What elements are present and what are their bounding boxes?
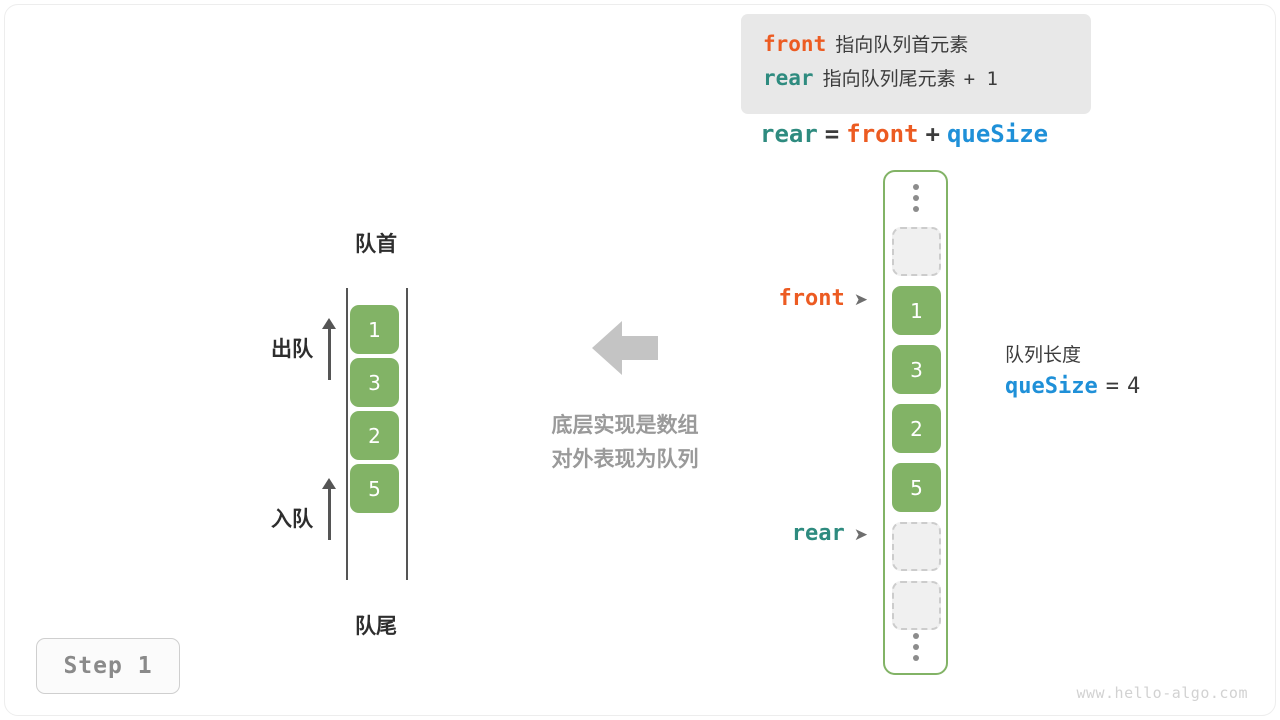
queue-cell-1-value: 3	[368, 371, 381, 395]
array-container: 1 3 2 5	[883, 170, 948, 675]
rear-equation: rear=front+queSize	[760, 118, 1048, 150]
array-cell-4: 5	[892, 463, 941, 512]
rear-description-tail: + 1	[964, 68, 998, 90]
quesize-note: 队列长度 queSize=4	[1005, 340, 1140, 404]
queue-rail-left	[346, 288, 348, 580]
queue-tail-label: 队尾	[296, 610, 456, 640]
queue-cell-3: 5	[350, 464, 399, 513]
rear-pointer-arrow-icon: ➤	[854, 525, 868, 545]
quesize-name: queSize	[1005, 374, 1098, 399]
queue-cell-0-value: 1	[368, 318, 381, 342]
equation-front-term: front	[846, 120, 918, 148]
rear-description: 指向队列尾元素	[823, 68, 956, 90]
array-cell-4-value: 5	[910, 476, 923, 500]
rear-pointer-text: rear	[792, 521, 845, 546]
equation-equals: =	[825, 120, 839, 148]
center-caption-line2: 对外表现为队列	[504, 442, 746, 476]
ellipsis-bottom-icon	[913, 633, 919, 661]
abstraction-left-arrow-icon	[592, 320, 658, 376]
rear-keyword: rear	[763, 66, 814, 90]
equation-plus: +	[926, 120, 940, 148]
pointer-definition-box: front指向队列首元素 rear指向队列尾元素+ 1	[741, 14, 1091, 114]
quesize-operator: =	[1106, 374, 1119, 399]
queue-rail-right	[406, 288, 408, 580]
step-badge-label: Step 1	[63, 653, 152, 679]
array-cell-1: 1	[892, 286, 941, 335]
queue-cell-1: 3	[350, 358, 399, 407]
front-keyword: front	[763, 32, 826, 56]
queue-cell-2-value: 2	[368, 424, 381, 448]
dequeue-arrow-icon	[322, 318, 336, 380]
front-pointer-text: front	[779, 286, 845, 311]
equation-quesize-term: queSize	[947, 120, 1048, 148]
array-cell-6	[892, 581, 941, 630]
array-cell-1-value: 1	[910, 299, 923, 323]
front-pointer-arrow-icon: ➤	[854, 290, 868, 310]
step-badge: Step 1	[36, 638, 180, 694]
queue-cell-3-value: 5	[368, 477, 381, 501]
ellipsis-top-icon	[913, 184, 919, 212]
center-caption-line1: 底层实现是数组	[504, 408, 746, 442]
info-line-rear: rear指向队列尾元素+ 1	[763, 61, 1069, 95]
array-cell-0	[892, 227, 941, 276]
front-description: 指向队列首元素	[835, 34, 968, 56]
front-pointer-label: front➤	[700, 284, 868, 314]
quesize-expression: queSize=4	[1005, 370, 1140, 404]
quesize-title: 队列长度	[1005, 340, 1140, 370]
array-cell-5	[892, 522, 941, 571]
info-line-front: front指向队列首元素	[763, 27, 1069, 61]
dequeue-label: 出队	[243, 335, 313, 363]
quesize-value: 4	[1127, 374, 1140, 399]
array-cell-3: 2	[892, 404, 941, 453]
array-cell-2-value: 3	[910, 358, 923, 382]
array-cell-2: 3	[892, 345, 941, 394]
rear-pointer-label: rear➤	[700, 519, 868, 549]
watermark: www.hello-algo.com	[1076, 684, 1248, 702]
queue-cell-0: 1	[350, 305, 399, 354]
queue-head-label: 队首	[296, 228, 456, 258]
center-caption: 底层实现是数组 对外表现为队列	[504, 408, 746, 476]
array-cell-3-value: 2	[910, 417, 923, 441]
diagram-canvas: front指向队列首元素 rear指向队列尾元素+ 1 rear=front+q…	[0, 0, 1280, 720]
enqueue-label: 入队	[243, 505, 313, 533]
enqueue-arrow-icon	[322, 478, 336, 540]
queue-cell-2: 2	[350, 411, 399, 460]
equation-lhs: rear	[760, 120, 818, 148]
